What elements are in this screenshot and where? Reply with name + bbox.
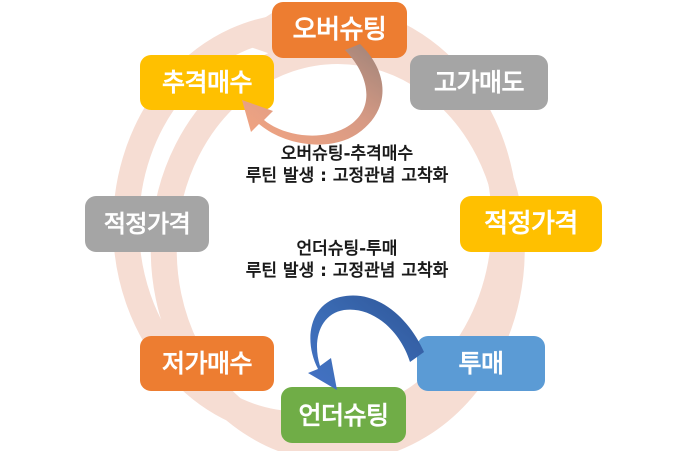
node-high-sell-label: 고가매도: [434, 70, 524, 95]
node-panic-sell[interactable]: 투매: [417, 336, 545, 391]
node-overshooting[interactable]: 오버슈팅: [272, 2, 407, 58]
node-undershooting[interactable]: 언더슈팅: [281, 387, 406, 443]
diagram-canvas: 오버슈팅 고가매도 적정가격 투매 언더슈팅 저가매수 적정가격 추격매수: [0, 0, 674, 451]
node-panic-sell-label: 투매: [458, 351, 503, 376]
node-undershooting-label: 언더슈팅: [298, 403, 388, 428]
caption-lower-line1: 언더슈팅-투매: [187, 238, 507, 260]
caption-upper-line1: 오버슈팅-추격매수: [187, 143, 507, 165]
node-fair-price-right-label: 적정가격: [484, 211, 578, 237]
node-high-sell[interactable]: 고가매도: [410, 55, 548, 110]
caption-upper-line2: 루틴 발생 : 고정관념 고착화: [187, 165, 507, 187]
caption-lower: 언더슈팅-투매 루틴 발생 : 고정관념 고착화: [187, 238, 507, 283]
node-low-buy[interactable]: 저가매수: [140, 336, 274, 391]
caption-lower-line2: 루틴 발생 : 고정관념 고착화: [187, 260, 507, 282]
node-chase-buy[interactable]: 추격매수: [140, 55, 274, 110]
node-low-buy-label: 저가매수: [162, 351, 252, 376]
caption-upper: 오버슈팅-추격매수 루틴 발생 : 고정관념 고착화: [187, 143, 507, 188]
node-chase-buy-label: 추격매수: [162, 70, 252, 95]
node-overshooting-label: 오버슈팅: [293, 17, 387, 43]
node-fair-price-left-label: 적정가격: [104, 212, 190, 236]
